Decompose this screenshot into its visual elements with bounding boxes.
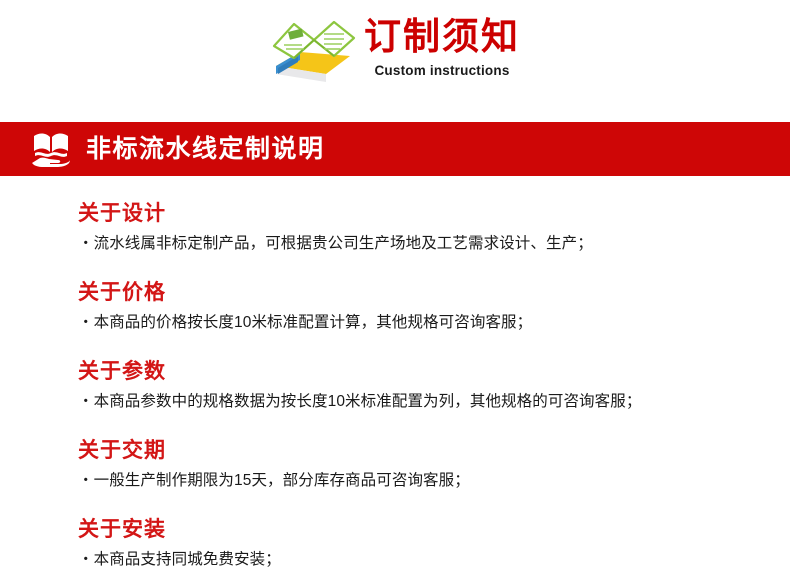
section-body: ・流水线属非标定制产品，可根据贵公司生产场地及工艺需求设计、生产； xyxy=(78,232,790,256)
bullet-icon: ・ xyxy=(78,235,94,252)
bullet-icon: ・ xyxy=(78,314,94,331)
open-book-stack-icon xyxy=(270,12,356,88)
bullet-icon: ・ xyxy=(78,393,94,410)
section-body: ・本商品支持同城免费安装； xyxy=(78,548,790,572)
section-heading: 关于价格 xyxy=(78,279,790,306)
bullet-icon: ・ xyxy=(78,551,94,568)
instruction-section: 关于设计 ・流水线属非标定制产品，可根据贵公司生产场地及工艺需求设计、生产； xyxy=(78,200,790,256)
section-heading: 关于安装 xyxy=(78,516,790,543)
instruction-section: 关于交期 ・一般生产制作期限为15天，部分库存商品可咨询客服； xyxy=(78,437,790,493)
section-body: ・一般生产制作期限为15天，部分库存商品可咨询客服； xyxy=(78,469,790,493)
book-on-hand-icon xyxy=(30,130,72,168)
instruction-section: 关于安装 ・本商品支持同城免费安装； xyxy=(78,516,790,572)
section-body-text: 本商品支持同城免费安装； xyxy=(94,551,281,568)
section-body-text: 流水线属非标定制产品，可根据贵公司生产场地及工艺需求设计、生产； xyxy=(94,235,593,252)
instructions-list: 关于设计 ・流水线属非标定制产品，可根据贵公司生产场地及工艺需求设计、生产； 关… xyxy=(0,176,790,572)
section-body: ・本商品参数中的规格数据为按长度10米标准配置为列，其他规格的可咨询客服； xyxy=(78,390,790,414)
bullet-icon: ・ xyxy=(78,472,94,489)
page-title: 订制须知 xyxy=(364,16,520,58)
page-header: 订制须知 Custom instructions xyxy=(0,0,790,122)
section-body: ・本商品的价格按长度10米标准配置计算，其他规格可咨询客服； xyxy=(78,311,790,335)
page-subtitle: Custom instructions xyxy=(374,62,509,80)
section-heading: 关于参数 xyxy=(78,358,790,385)
section-body-text: 本商品参数中的规格数据为按长度10米标准配置为列，其他规格的可咨询客服； xyxy=(94,393,642,410)
section-body-text: 本商品的价格按长度10米标准配置计算，其他规格可咨询客服； xyxy=(94,314,533,331)
banner-title: 非标流水线定制说明 xyxy=(86,134,325,164)
instruction-section: 关于价格 ・本商品的价格按长度10米标准配置计算，其他规格可咨询客服； xyxy=(78,279,790,335)
header-logo-group: 订制须知 Custom instructions xyxy=(270,12,520,88)
section-body-text: 一般生产制作期限为15天，部分库存商品可咨询客服； xyxy=(94,472,470,489)
instruction-section: 关于参数 ・本商品参数中的规格数据为按长度10米标准配置为列，其他规格的可咨询客… xyxy=(78,358,790,414)
section-heading: 关于交期 xyxy=(78,437,790,464)
section-banner: 非标流水线定制说明 xyxy=(0,122,790,176)
section-heading: 关于设计 xyxy=(78,200,790,227)
header-title-stack: 订制须知 Custom instructions xyxy=(364,12,520,80)
